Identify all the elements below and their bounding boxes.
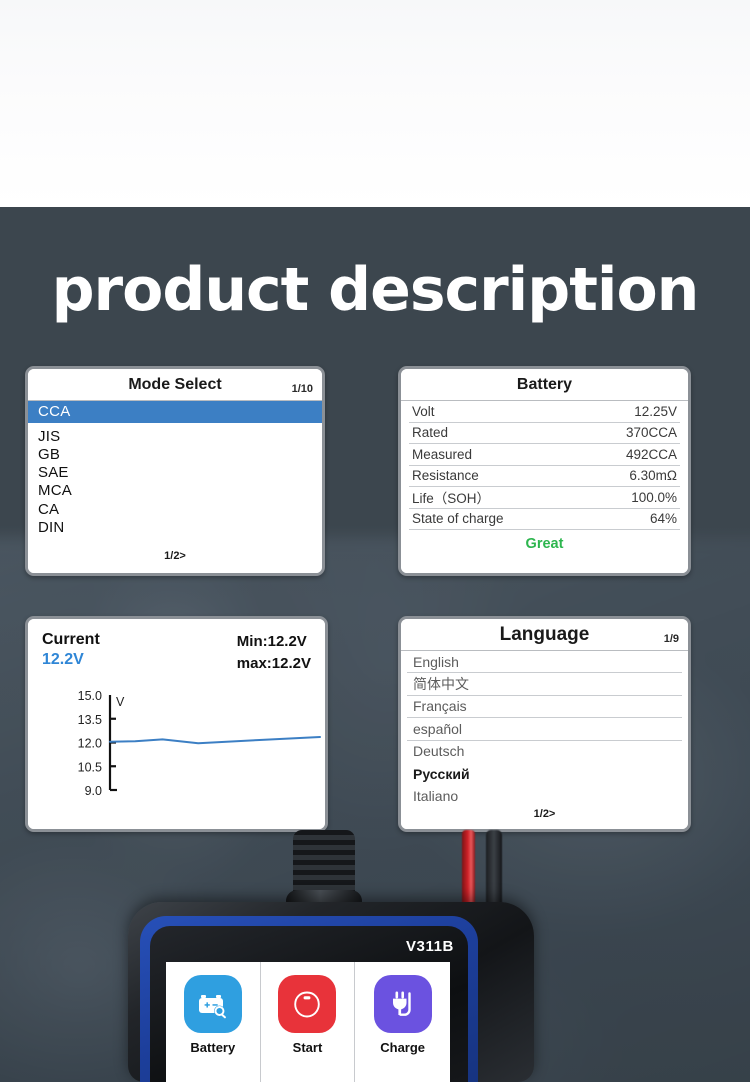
current-value: 12.2V [42,651,100,669]
voltage-line-chart: 15.013.512.010.59.0V [28,687,325,802]
language-list: English 简体中文 Français español Deutsch Ру… [401,651,688,808]
list-item[interactable]: SAE [38,464,312,482]
mode-select-header: Mode Select 1/10 [28,369,322,401]
table-row: Rated 370CCA [409,423,680,445]
battery-result-screen: Battery Volt 12.25V Rated 370CCA Measure… [398,366,691,576]
list-item[interactable]: JIS [38,428,312,446]
row-label: State of charge [412,511,504,526]
row-label: Volt [412,404,435,419]
cable-strain-relief [293,830,355,896]
mode-select-list: JIS GB SAE MCA CA DIN [28,423,322,537]
device-model-label: V311B [406,938,454,955]
list-item[interactable]: español [407,718,682,740]
menu-label: Charge [380,1040,425,1055]
chart-ytick-label: 15.0 [78,689,102,703]
row-label: Measured [412,447,472,462]
row-value: 64% [650,511,677,526]
mode-select-pagination[interactable]: 1/2> [28,550,322,562]
current-min: Min:12.2V [237,631,311,653]
row-label: Rated [412,425,448,440]
page-title: product description [0,255,750,325]
menu-item-battery[interactable]: Battery [166,962,261,1082]
list-item[interactable]: Français [407,696,682,718]
mode-select-title: Mode Select [128,376,221,394]
table-row: Life（SOH） 100.0% [409,487,680,509]
chart-ytick-label: 9.0 [85,784,102,798]
language-page-indicator: 1/9 [664,633,679,645]
mode-select-screen: Mode Select 1/10 CCA JIS GB SAE MCA CA D… [25,366,325,576]
battery-search-icon [184,975,242,1033]
device-menu-grid: Battery Start [166,962,450,1082]
table-row: Volt 12.25V [409,401,680,423]
list-item[interactable]: Italiano [407,785,682,807]
device-lcd-screen: Battery Start [166,962,450,1082]
list-item[interactable]: MCA [38,482,312,500]
top-white-band [0,0,750,207]
menu-item-charge[interactable]: Charge [355,962,450,1082]
device-blue-bezel: V311B [140,916,478,1082]
row-value: 370CCA [626,425,677,440]
status-badge: Great [401,530,688,552]
row-value: 100.0% [631,490,677,505]
list-item[interactable]: Deutsch [407,741,682,763]
language-select-screen: Language 1/9 English 简体中文 Français españ… [398,616,691,832]
current-voltage-screen: Current 12.2V Min:12.2V max:12.2V 15.013… [25,616,328,832]
starter-icon [278,975,336,1033]
row-value: 492CCA [626,447,677,462]
list-item[interactable]: DIN [38,519,312,537]
menu-label: Battery [190,1040,235,1055]
mode-select-selected-item[interactable]: CCA [28,401,322,423]
battery-table: Volt 12.25V Rated 370CCA Measured 492CCA… [401,401,688,530]
device-photo: V311B [0,830,750,1082]
current-max: max:12.2V [237,653,311,675]
chart-series-line [110,736,320,742]
chart-ytick-label: 13.5 [78,712,102,726]
list-item[interactable]: CA [38,501,312,519]
table-row: State of charge 64% [409,509,680,531]
device-black-bezel: V311B [150,926,468,1082]
list-item[interactable]: 简体中文 [407,673,682,695]
row-label: Life（SOH） [412,487,490,507]
battery-title: Battery [517,376,572,394]
language-title: Language [500,624,590,646]
current-label: Current [42,631,100,649]
list-item[interactable]: Русский [407,763,682,785]
table-row: Measured 492CCA [409,444,680,466]
device-shell: V311B [128,902,534,1082]
language-header: Language 1/9 [401,619,688,651]
menu-label: Start [293,1040,323,1055]
row-value: 12.25V [634,404,677,419]
current-header: Current 12.2V Min:12.2V max:12.2V [28,619,325,675]
list-item[interactable]: GB [38,446,312,464]
chart-canvas: 15.013.512.010.59.0V [28,687,328,802]
list-item[interactable]: English [407,651,682,673]
black-clamp-cable [486,830,502,910]
battery-header: Battery [401,369,688,401]
row-value: 6.30mΩ [629,468,677,483]
chart-ytick-label: 12.0 [78,736,102,750]
chart-unit-label: V [116,695,125,709]
charge-plug-icon [374,975,432,1033]
menu-item-start[interactable]: Start [261,962,356,1082]
row-label: Resistance [412,468,479,483]
mode-select-page-indicator: 1/10 [292,383,313,395]
language-pagination[interactable]: 1/2> [401,808,688,820]
table-row: Resistance 6.30mΩ [409,466,680,488]
chart-ytick-label: 10.5 [78,760,102,774]
